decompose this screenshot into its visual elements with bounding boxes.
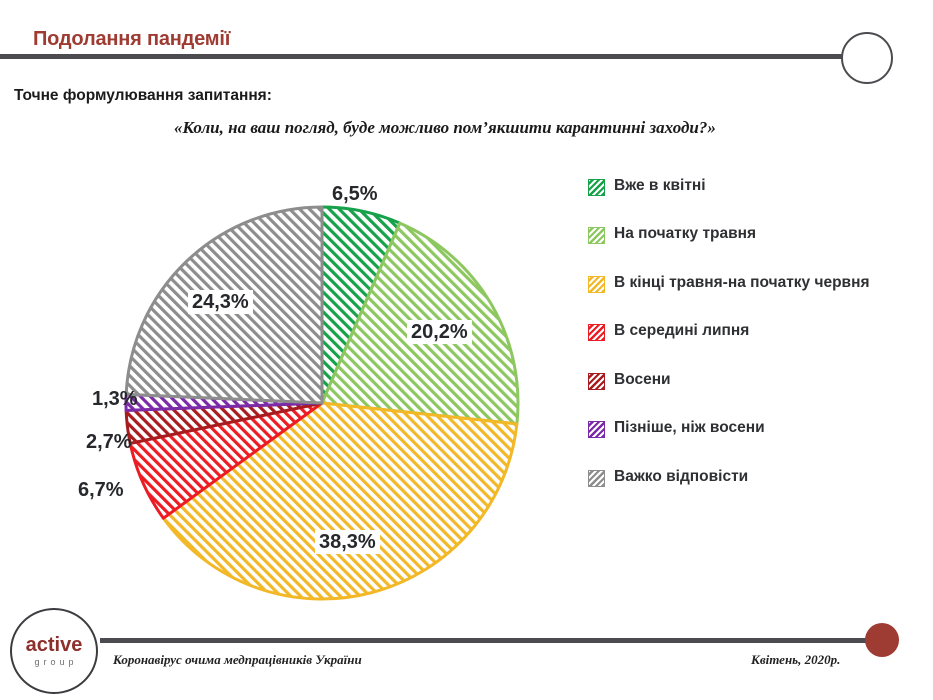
hatched-swatch-dark-red-icon xyxy=(588,373,605,390)
legend-item-label: Восени xyxy=(614,370,671,390)
chart-legend: Вже в квітніНа початку травняВ кінці тра… xyxy=(588,176,918,515)
hatched-swatch-green-icon xyxy=(588,179,605,196)
legend-item-label: В середині липня xyxy=(614,321,749,341)
legend-item-label: На початку травня xyxy=(614,224,756,244)
footer-left-text: Коронавірус очима медпрацівників України xyxy=(113,652,362,668)
logo-secondary-text: group xyxy=(34,658,77,667)
hatched-swatch-gray-icon xyxy=(588,470,605,487)
footer-rule xyxy=(100,638,875,643)
legend-item-label: Вже в квітні xyxy=(614,176,706,196)
legend-item-label: В кінці травня-на початку червня xyxy=(614,273,870,293)
pie-label-5: 1,3% xyxy=(88,387,142,411)
legend-item-label: Важко відповісти xyxy=(614,467,748,487)
pie-label-1: 20,2% xyxy=(407,320,472,344)
legend-item-5[interactable]: Пізніше, ніж восени xyxy=(588,418,918,438)
logo-active-group: active group xyxy=(10,608,98,694)
pie-chart-svg xyxy=(110,190,540,620)
pie-label-3: 6,7% xyxy=(74,478,128,502)
pie-label-2: 38,3% xyxy=(315,530,380,554)
logo-primary-text: active xyxy=(26,635,83,655)
hatched-swatch-red-icon xyxy=(588,324,605,341)
hatched-swatch-gold-icon xyxy=(588,276,605,293)
legend-item-6[interactable]: Важко відповісти xyxy=(588,467,918,487)
legend-item-4[interactable]: Восени xyxy=(588,370,918,390)
open-circle-icon xyxy=(841,32,893,84)
pie-label-4: 2,7% xyxy=(82,430,136,454)
legend-item-1[interactable]: На початку травня xyxy=(588,224,918,244)
pie-label-6: 24,3% xyxy=(188,290,253,314)
hatched-swatch-purple-icon xyxy=(588,421,605,438)
footer-dot-icon xyxy=(865,623,899,657)
question-text: «Коли, на ваш погляд, буде можливо пом’я… xyxy=(174,118,716,138)
slide-root: Подолання пандемії Точне формулювання за… xyxy=(0,0,933,700)
question-lead-label: Точне формулювання запитання: xyxy=(14,87,272,105)
legend-item-0[interactable]: Вже в квітні xyxy=(588,176,918,196)
footer-right-text: Квітень, 2020р. xyxy=(751,652,840,668)
header-rule xyxy=(0,54,852,59)
legend-item-2[interactable]: В кінці травня-на початку червня xyxy=(588,273,918,293)
legend-item-3[interactable]: В середині липня xyxy=(588,321,918,341)
hatched-swatch-light-green-icon xyxy=(588,227,605,244)
pie-label-0: 6,5% xyxy=(328,182,382,206)
legend-item-label: Пізніше, ніж восени xyxy=(614,418,765,438)
page-title: Подолання пандемії xyxy=(33,28,230,51)
pie-chart: 6,5% 20,2% 38,3% 6,7% 2,7% 1,3% 24,3% xyxy=(110,190,540,620)
